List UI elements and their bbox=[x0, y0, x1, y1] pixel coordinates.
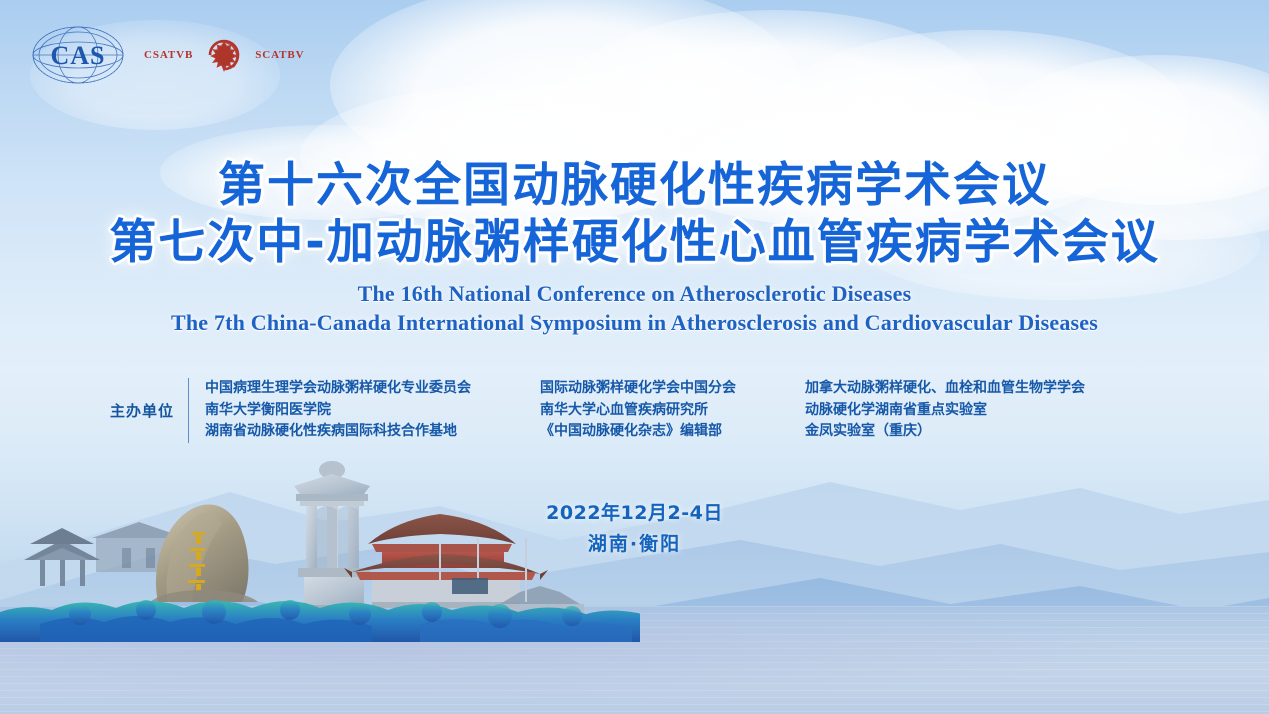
organizers-label: 主办单位 bbox=[110, 400, 188, 421]
organizers-columns: 中国病理生理学会动脉粥样硬化专业委员会 南华大学衡阳医学院 湖南省动脉硬化性疾病… bbox=[205, 378, 1085, 443]
chinese-title-line-1: 第十六次全国动脉硬化性疾病学术会议 bbox=[0, 160, 1269, 213]
organizers-block: 主办单位 中国病理生理学会动脉粥样硬化专业委员会 南华大学衡阳医学院 湖南省动脉… bbox=[110, 378, 1085, 443]
organizer-item: 加拿大动脉粥样硬化、血栓和血管生物学学会 bbox=[805, 378, 1085, 400]
chinese-title-line-2: 第七次中-加动脉粥样硬化性心血管疾病学术会议 bbox=[0, 217, 1269, 270]
organizer-column: 加拿大动脉粥样硬化、血栓和血管生物学学会 动脉硬化学湖南省重点实验室 金凤实验室… bbox=[805, 378, 1085, 443]
organizer-column: 中国病理生理学会动脉粥样硬化专业委员会 南华大学衡阳医学院 湖南省动脉硬化性疾病… bbox=[205, 378, 540, 443]
organizer-item: 湖南省动脉硬化性疾病国际科技合作基地 bbox=[205, 421, 540, 443]
organizer-item: 《中国动脉硬化杂志》编辑部 bbox=[540, 421, 805, 443]
organizer-column: 国际动脉粥样硬化学会中国分会 南华大学心血管疾病研究所 《中国动脉硬化杂志》编辑… bbox=[540, 378, 805, 443]
event-info-block: 2022年12月2-4日 湖南·衡阳 bbox=[0, 498, 1269, 556]
cas-globe-logo: CAS bbox=[30, 22, 126, 88]
title-block: 第十六次全国动脉硬化性疾病学术会议 第七次中-加动脉粥样硬化性心血管疾病学术会议… bbox=[0, 160, 1269, 336]
scatbv-label: SCATBV bbox=[255, 49, 304, 61]
organizer-item: 金凤实验室（重庆） bbox=[805, 421, 1085, 443]
english-title-line-2: The 7th China-Canada International Sympo… bbox=[0, 310, 1269, 336]
organizers-divider bbox=[188, 378, 189, 443]
event-location: 湖南·衡阳 bbox=[0, 529, 1269, 556]
csatvb-label: CSATVB bbox=[144, 49, 193, 61]
csatvb-scatbv-logo: CSATVB SCATBV bbox=[144, 33, 304, 77]
organizer-item: 动脉硬化学湖南省重点实验室 bbox=[805, 400, 1085, 422]
organizer-item: 中国病理生理学会动脉粥样硬化专业委员会 bbox=[205, 378, 540, 400]
signboard bbox=[452, 578, 488, 594]
svg-text:CAS: CAS bbox=[50, 41, 105, 70]
event-date: 2022年12月2-4日 bbox=[0, 498, 1269, 525]
organizer-item: 国际动脉粥样硬化学会中国分会 bbox=[540, 378, 805, 400]
logo-bar: CAS CSATVB SCATBV bbox=[30, 22, 304, 88]
english-title-line-1: The 16th National Conference on Atherosc… bbox=[0, 281, 1269, 307]
conference-poster: CAS CSATVB SCATBV 第十六次全国动脉硬化性疾病学术会议 第七次中… bbox=[0, 0, 1269, 714]
organizer-item: 南华大学心血管疾病研究所 bbox=[540, 400, 805, 422]
maple-leaf-icon bbox=[202, 33, 246, 77]
organizer-item: 南华大学衡阳医学院 bbox=[205, 400, 540, 422]
